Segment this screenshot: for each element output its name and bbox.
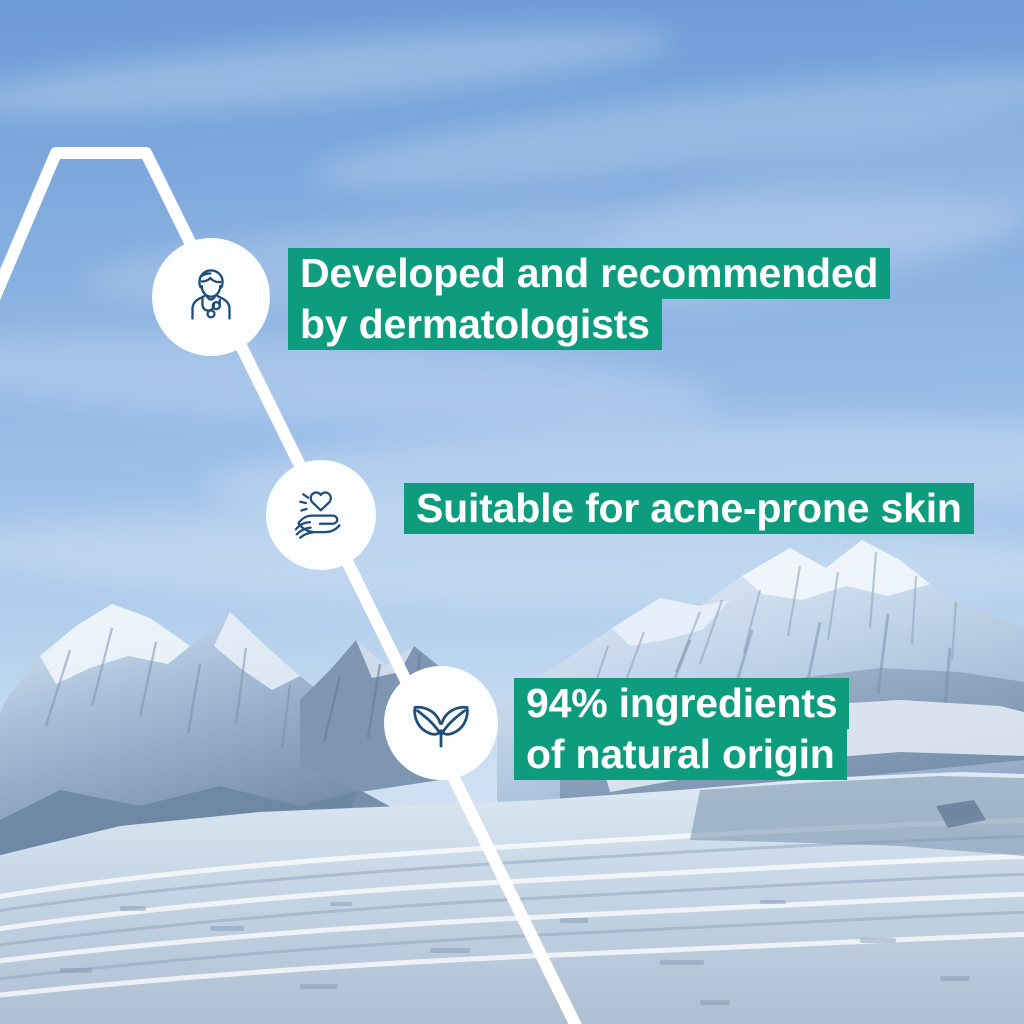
feature-2-labels: Suitable for acne-prone skin [404,483,974,534]
doctor-icon-bubble [152,238,270,356]
leaf-icon-bubble [384,666,498,780]
feature-3-labels: 94% ingredients of natural origin [514,678,849,780]
feature-3-line-2: of natural origin [514,729,847,780]
leaf-sprout-icon [404,686,478,760]
feature-1-line-1: Developed and recommended [288,248,890,299]
feature-2-line-1: Suitable for acne-prone skin [404,483,974,534]
doctor-stethoscope-icon [174,260,248,334]
feature-1-labels: Developed and recommended by dermatologi… [288,248,890,350]
feature-1-line-2: by dermatologists [288,299,662,350]
promo-graphic: Developed and recommended by dermatologi… [0,0,1024,1024]
feature-3-line-1: 94% ingredients [514,678,849,729]
hand-heart-icon-bubble [266,460,376,570]
hand-holding-heart-icon [285,479,357,551]
